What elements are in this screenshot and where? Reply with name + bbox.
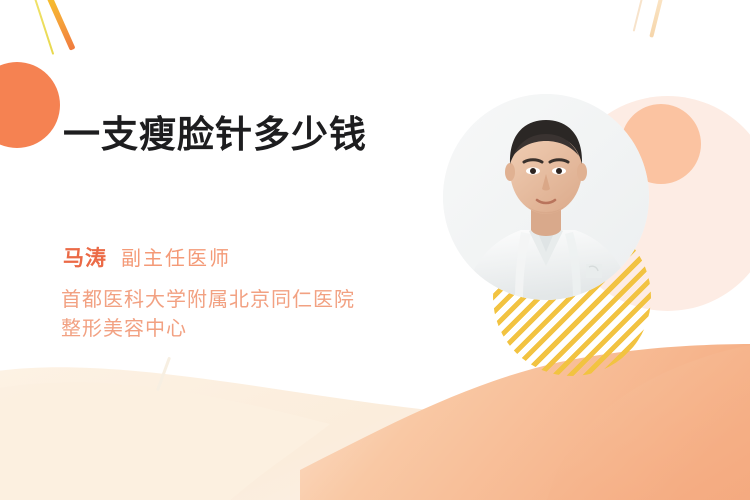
title-block: 一支瘦脸针多少钱 xyxy=(63,112,463,158)
doctor-photo xyxy=(443,94,649,300)
hospital-line-2: 整形美容中心 xyxy=(61,315,355,344)
doctor-identity-line: 马涛副主任医师 xyxy=(63,248,231,269)
doctor-title: 副主任医师 xyxy=(121,248,231,270)
page-title: 一支瘦脸针多少钱 xyxy=(63,112,463,158)
hospital-block: 首都医科大学附属北京同仁医院 整形美容中心 xyxy=(61,286,355,344)
doctor-profile-card: 一支瘦脸针多少钱 马涛副主任医师 首都医科大学附属北京同仁医院 整形美容中心 xyxy=(0,0,750,500)
hospital-line-1: 首都医科大学附属北京同仁医院 xyxy=(61,286,355,315)
doctor-name: 马涛 xyxy=(63,247,107,270)
